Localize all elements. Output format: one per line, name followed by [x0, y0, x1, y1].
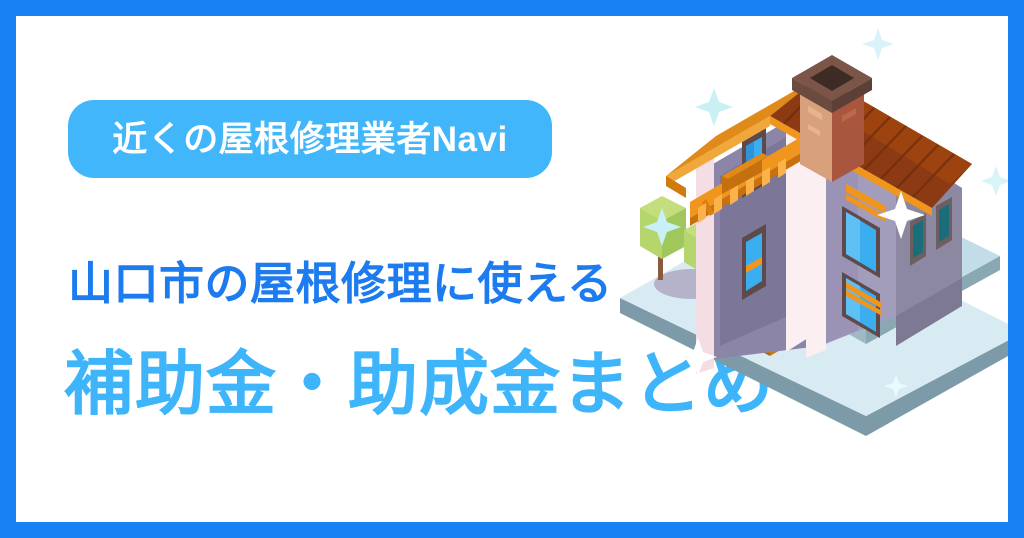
banner-canvas: 近くの屋根修理業者Navi 山口市の屋根修理に使える 補助金・助成金まとめ	[0, 0, 1024, 538]
site-badge: 近くの屋根修理業者Navi	[68, 100, 552, 178]
sparkle-icon	[981, 166, 1008, 196]
headline-line-1: 山口市の屋根修理に使える	[68, 261, 613, 306]
chimney	[792, 55, 872, 182]
sparkle-icon	[695, 88, 733, 126]
site-badge-label: 近くの屋根修理業者Navi	[112, 122, 507, 157]
isometric-house-illustration	[610, 16, 1008, 456]
banner-inner-area: 近くの屋根修理業者Navi 山口市の屋根修理に使える 補助金・助成金まとめ	[16, 16, 1008, 522]
sparkle-icon	[862, 28, 894, 60]
